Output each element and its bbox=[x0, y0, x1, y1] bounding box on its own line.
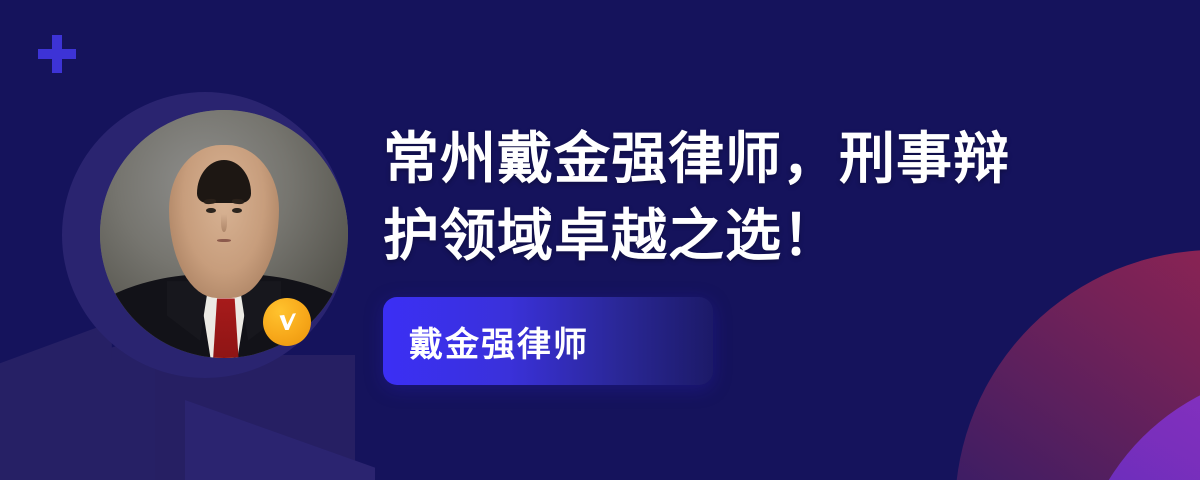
portrait-head bbox=[169, 145, 278, 299]
portrait-eye-right bbox=[232, 208, 242, 213]
plus-icon bbox=[38, 35, 76, 73]
portrait-tie bbox=[213, 298, 239, 358]
portrait-brow-right bbox=[231, 198, 243, 204]
portrait-mouth bbox=[217, 239, 230, 242]
lawyer-name-button[interactable]: 戴金强律师 bbox=[383, 297, 713, 385]
purple-blob-shape bbox=[1075, 370, 1200, 480]
portrait-eye-left bbox=[206, 208, 216, 213]
portrait-hair bbox=[197, 160, 252, 203]
portrait-nose bbox=[221, 214, 226, 232]
avatar[interactable] bbox=[62, 92, 348, 378]
portrait-brow-left bbox=[204, 198, 216, 204]
plus-icon-bar-vertical bbox=[52, 35, 62, 73]
crimson-blob-shape bbox=[955, 250, 1200, 480]
promo-banner: 常州戴金强律师，刑事辩 护领域卓越之选！ 戴金强律师 bbox=[0, 0, 1200, 480]
headline-block: 常州戴金强律师，刑事辩 护领域卓越之选！ bbox=[383, 120, 1173, 275]
verified-badge-icon bbox=[263, 298, 311, 346]
page-title: 常州戴金强律师，刑事辩 护领域卓越之选！ bbox=[383, 120, 1173, 275]
angular-shard-d bbox=[185, 400, 375, 480]
